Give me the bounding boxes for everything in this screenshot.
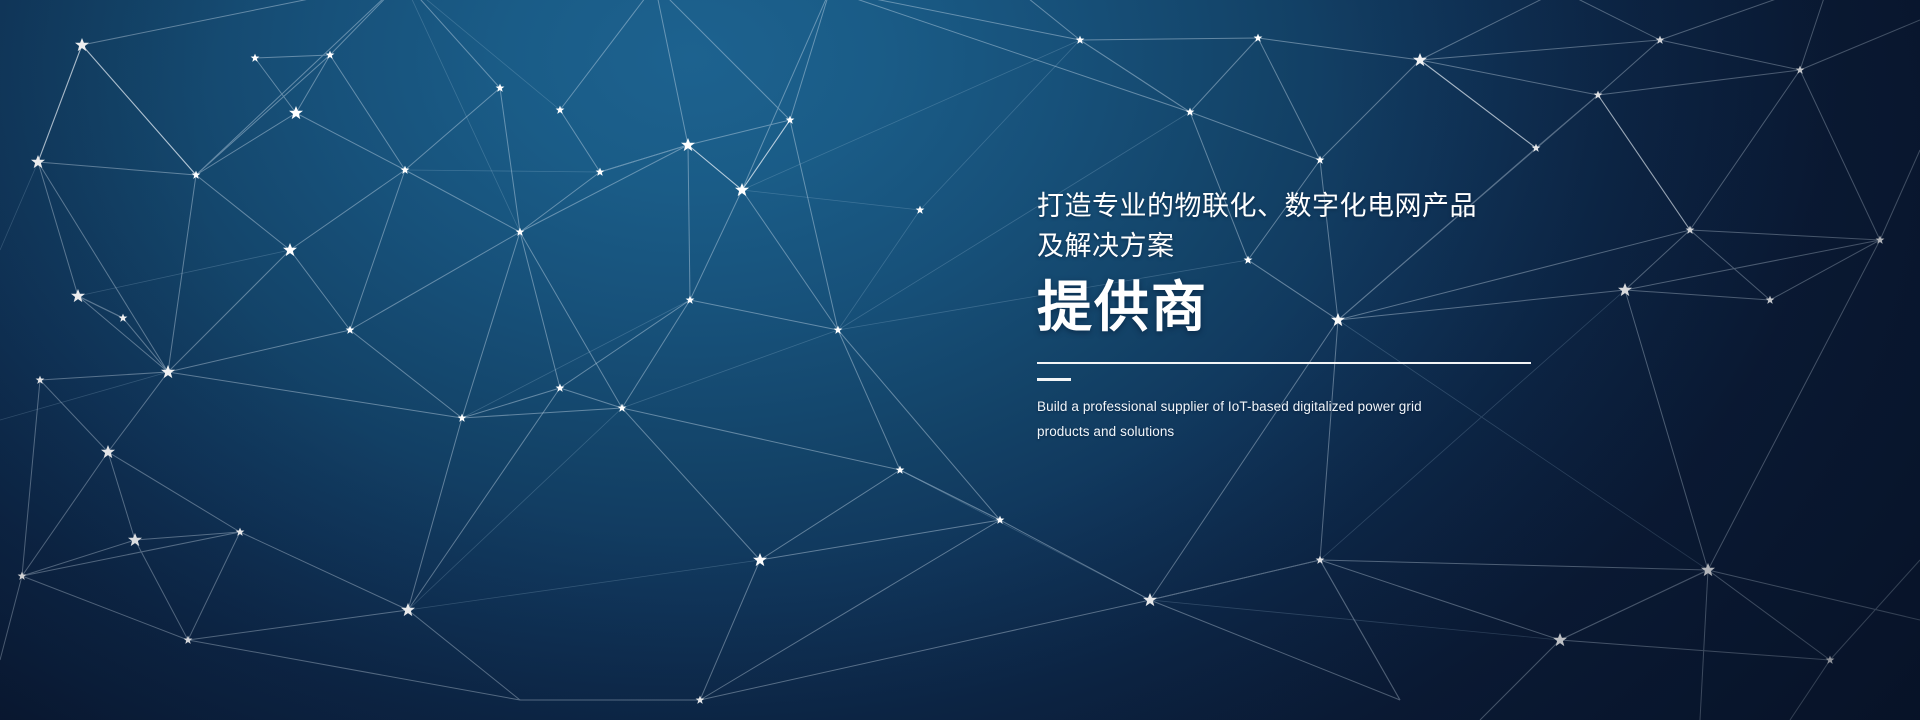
divider-short — [1037, 378, 1071, 381]
hero-text-block: 打造专业的物联化、数字化电网产品 及解决方案 提供商 Build a profe… — [1037, 186, 1597, 444]
headline-line-2: 及解决方案 — [1037, 226, 1597, 266]
subtitle-line-2: products and solutions — [1037, 419, 1597, 444]
divider-long — [1037, 362, 1531, 364]
subtitle-line-1: Build a professional supplier of IoT-bas… — [1037, 394, 1597, 419]
headline-emphasis: 提供商 — [1037, 272, 1597, 342]
hero-banner: .ln { stroke: #cfe0ef; stroke-width: 1; … — [0, 0, 1920, 720]
polygon-network-graphic: .ln { stroke: #cfe0ef; stroke-width: 1; … — [0, 0, 1920, 720]
headline-line-1: 打造专业的物联化、数字化电网产品 — [1037, 186, 1597, 226]
